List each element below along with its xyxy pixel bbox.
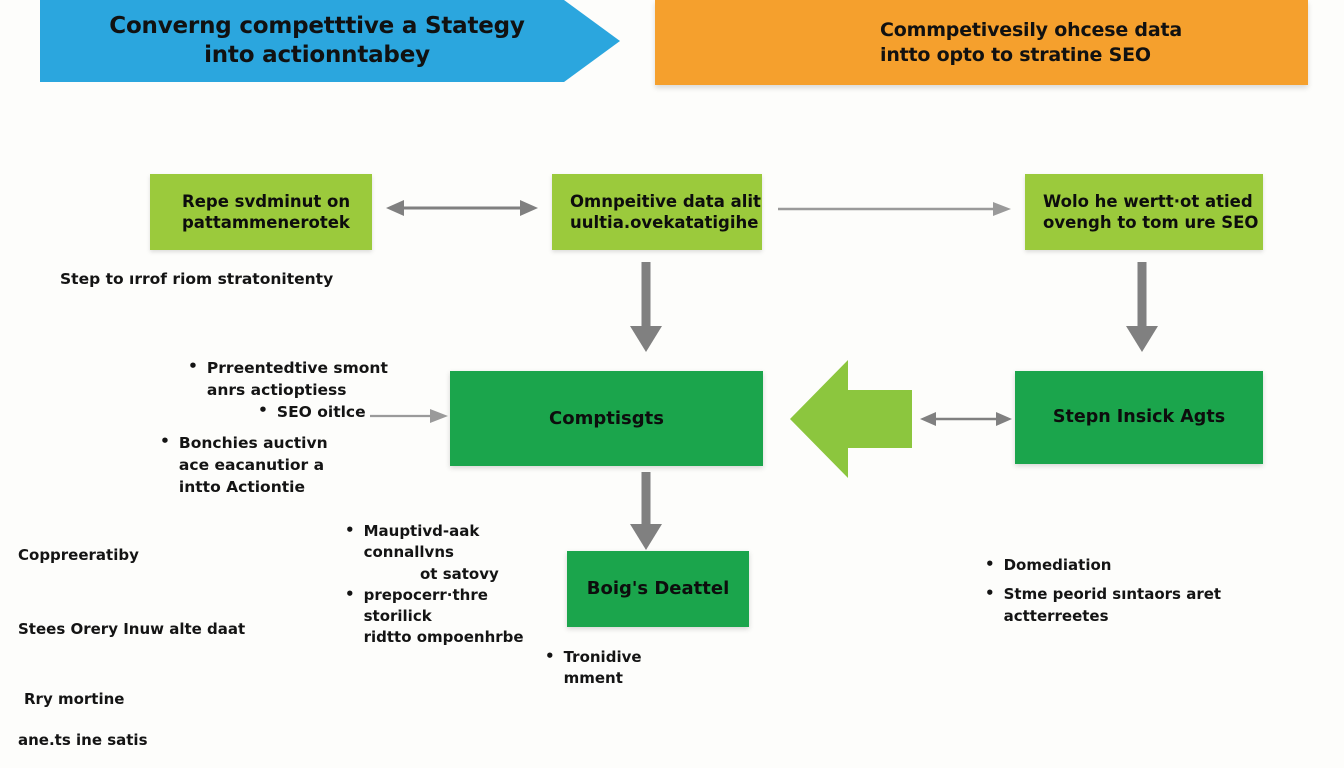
box-audit: Repe svdminut on pattammenerotek (150, 174, 372, 250)
list-item: • Mauptivd-аak connallvns (345, 521, 560, 564)
list-item: • Bonchies auctivn ace eacanutior a intt… (160, 432, 380, 498)
bullet-dot-icon: • (345, 521, 355, 540)
box-blog-detail: Boig's Deattel (567, 551, 749, 627)
bullet-text: Stme peorid sıntaors aret actterreetes (1004, 584, 1221, 627)
coop-line1: Stees Orery Inuw alte daat (18, 619, 298, 640)
big-arrow-left-icon (790, 360, 912, 478)
list-item: • Prreentedtive smont anrs actioptiess (188, 357, 418, 401)
double-arrow-audit-data-icon (386, 198, 538, 218)
list-item: • Domediation (985, 555, 1235, 576)
bullet-dot-icon: • (545, 647, 555, 666)
box-seo-line1: Wolo he wertt·ot atied (1043, 191, 1258, 212)
arrow-insights-down-icon (628, 472, 664, 550)
box-competitive-data: Omnpeitive data alit uultia.ovekatatigih… (552, 174, 762, 250)
box-insights-label: Comptisgts (549, 407, 664, 430)
coop-line2: Rry mortine (18, 689, 298, 710)
bullet-text: Domediation (1004, 555, 1112, 576)
banner-orange-line2: intto opto to stratine SEO (880, 43, 1182, 67)
bullet-text: Prreentedtive smont anrs actioptiess (207, 357, 388, 401)
bullet-text: Bonchies auctivn ace eacanutior a intto … (179, 432, 328, 498)
box-audit-line2: pattammenerotek (182, 212, 350, 233)
list-item: • SEO oitlce (258, 401, 418, 423)
box-data-line2: uultia.ovekatatigihe (570, 212, 761, 233)
diagram-canvas: Converng competttive a Stategy into acti… (0, 0, 1344, 768)
bullets-lower-left: • Bonchies auctivn ace eacanutior a intt… (160, 432, 380, 498)
bullets-mid-left: • Prreentedtive smont anrs actioptiess •… (188, 357, 418, 423)
banner-blue-line1: Converng competttive a Stategy (109, 12, 524, 41)
banner-orange-seo: Commpetivesily ohcese data intto opto to… (655, 0, 1308, 85)
coop-line3: ane.ts ine satis (18, 730, 298, 751)
bullets-bottom-right: • Domediation • Stme peorid sıntaors are… (985, 555, 1235, 627)
bullet-text: prepocerr·thre storilick ridtto ompoenhr… (364, 585, 560, 649)
list-item: • Stme peorid sıntaors aret actterreetes (985, 584, 1235, 627)
banner-blue-line2: into actionntabey (109, 41, 524, 70)
box-data-line1: Omnpeitive data alit (570, 191, 761, 212)
coop-heading: Coppreeratiby (18, 545, 298, 566)
bullets-under-detail: • Tronidive mment (545, 647, 695, 690)
label-steps: Step to ırrof riom stratonitenty (60, 269, 333, 290)
box-agents-label: Stepn Insick Agts (1053, 406, 1225, 429)
bullet-text: Tronidive mment (564, 647, 642, 690)
arrow-data-to-seo-icon (778, 200, 1011, 218)
bullet-text: ot satovy (420, 564, 499, 585)
box-detail-label: Boig's Deattel (587, 577, 730, 600)
list-item: • Tronidive mment (545, 647, 695, 690)
box-agents: Stepn Insick Agts (1015, 371, 1263, 464)
box-insights: Comptisgts (450, 371, 763, 466)
bullet-text: SEO oitlce (277, 401, 366, 423)
banner-orange-line1: Commpetivesily ohcese data (880, 18, 1182, 42)
bullet-dot-icon: • (160, 432, 170, 451)
arrow-seo-down-icon (1124, 262, 1160, 352)
bullet-dot-icon: • (985, 584, 995, 603)
list-item: • prepocerr·thre storilick ridtto ompoen… (345, 585, 560, 649)
box-audit-line1: Repe svdminut on (182, 191, 350, 212)
bullet-dot-icon: • (188, 357, 198, 376)
banner-blue-strategy: Converng competttive a Stategy into acti… (40, 0, 620, 82)
arrow-data-down-icon (628, 262, 664, 352)
bullet-dot-icon: • (985, 555, 995, 574)
bullets-bottom-middle: • Mauptivd-аak connallvns ot satovy • pr… (345, 521, 560, 649)
bullet-text: Mauptivd-аak connallvns (364, 521, 480, 564)
text-cooperation-block: Coppreeratiby Stees Orery Inuw alte daat… (18, 524, 298, 768)
bullet-dot-icon: • (258, 401, 268, 420)
box-seo-line2: ovengh to tom ure SEO (1043, 212, 1258, 233)
bullet-dot-icon: • (345, 585, 355, 604)
list-item: ot satovy (420, 564, 560, 585)
box-seo-workflow: Wolo he wertt·ot atied ovengh to tom ure… (1025, 174, 1263, 250)
double-arrow-insights-agents-icon (920, 410, 1012, 428)
